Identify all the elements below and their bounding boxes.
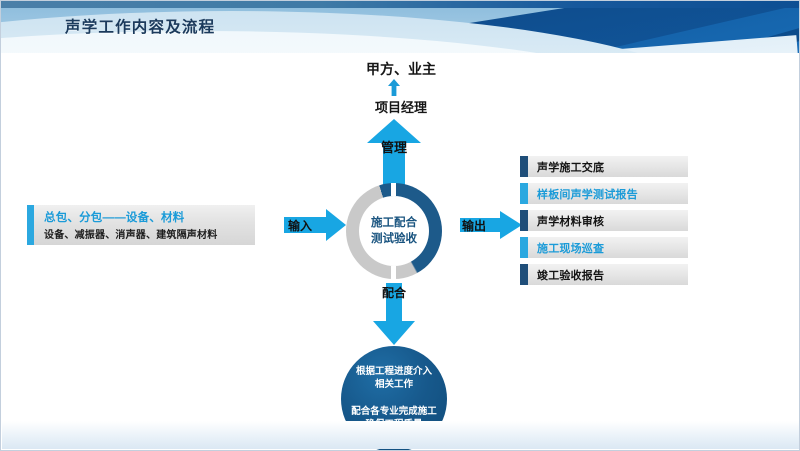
list-item[interactable]: 竣工验收报告 xyxy=(520,264,688,285)
list-item-label: 竣工验收报告 xyxy=(537,264,604,285)
input-source-title: 总包、分包——设备、材料 xyxy=(44,209,184,225)
cooperate-arrow-label: 配合 xyxy=(373,285,415,301)
item-accent-bar xyxy=(520,183,528,204)
item-accent-bar xyxy=(520,237,528,258)
donut-center-text: 施工配合 测试验收 xyxy=(359,196,429,266)
input-source-box: 总包、分包——设备、材料 设备、减振器、消声器、建筑隔声材料 xyxy=(27,205,255,245)
project-manager-label: 项目经理 xyxy=(1,97,800,116)
item-accent-bar xyxy=(520,264,528,285)
list-item-label: 声学施工交底 xyxy=(537,156,604,177)
output-arrow-label: 输出 xyxy=(460,211,524,239)
donut-gap-bottom xyxy=(391,266,396,279)
donut-line-1: 施工配合 xyxy=(371,215,417,231)
list-item-label: 声学材料审核 xyxy=(537,210,604,231)
donut-line-2: 测试验收 xyxy=(371,231,417,247)
list-item[interactable]: 声学材料审核 xyxy=(520,210,688,231)
input-source-subtitle: 设备、减振器、消声器、建筑隔声材料 xyxy=(44,226,217,241)
page-title: 声学工作内容及流程 xyxy=(65,15,215,37)
cooperate-down-arrow: 配合 xyxy=(373,283,415,345)
list-item-label: 施工现场巡查 xyxy=(537,237,604,258)
banner-top-strip xyxy=(1,1,800,8)
donut-gap-top xyxy=(391,183,396,196)
slide-canvas: 声学工作内容及流程 甲方、业主 项目经理 管理 总包、分包——设备、材料 设备、… xyxy=(0,0,800,451)
list-item[interactable]: 施工现场巡查 xyxy=(520,237,688,258)
output-right-arrow: 输出 xyxy=(460,211,522,239)
output-deliverables-list: 声学施工交底 样板间声学测试报告 声学材料审核 施工现场巡查 竣工验收报告 xyxy=(520,156,688,291)
owner-label: 甲方、业主 xyxy=(1,59,800,79)
circle-line-2: 相关工作 xyxy=(341,378,447,391)
item-accent-bar xyxy=(520,210,528,231)
footer-band xyxy=(2,421,799,449)
input-arrow-label: 输入 xyxy=(284,209,350,241)
list-item[interactable]: 声学施工交底 xyxy=(520,156,688,177)
manage-arrow-label: 管理 xyxy=(367,139,421,156)
slide-banner: 声学工作内容及流程 xyxy=(1,1,800,53)
circle-line-3: 配合各专业完成施工 xyxy=(341,405,447,418)
list-item[interactable]: 样板间声学测试报告 xyxy=(520,183,688,204)
small-up-arrow-icon xyxy=(388,79,400,96)
input-right-arrow: 输入 xyxy=(284,209,346,241)
circle-line-1: 根据工程进度介入 xyxy=(341,365,447,378)
item-accent-bar xyxy=(520,156,528,177)
manage-up-arrow: 管理 xyxy=(367,119,421,189)
list-item-label: 样板间声学测试报告 xyxy=(537,183,638,204)
center-process-donut: 施工配合 测试验收 xyxy=(346,183,442,279)
